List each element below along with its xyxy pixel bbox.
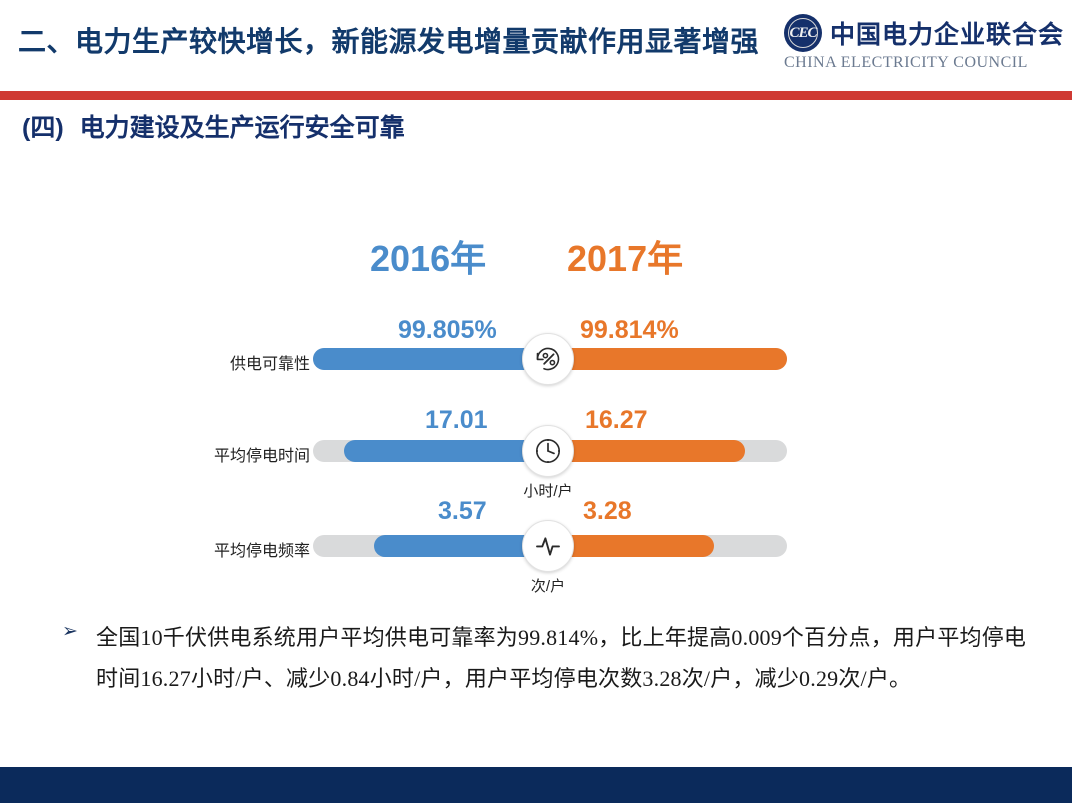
slide-header: 二、电力生产较快增长，新能源发电增量贡献作用显著增强 CEC 中国电力企业联合会… <box>0 0 1072 91</box>
row-value-2016-reliability: 99.805% <box>398 316 497 345</box>
row-fill-2017-outage-duration <box>550 440 745 462</box>
legend-2017: 2017年 <box>567 230 683 282</box>
logo-chinese-name: 中国电力企业联合会 <box>830 15 1064 51</box>
row-value-2016-outage-duration: 17.01 <box>425 406 488 435</box>
chart-row-reliability: 供电可靠性 99.805% 99.814% <box>0 318 1072 408</box>
bullet-arrow-icon: ➢ <box>62 618 96 641</box>
row-value-2016-outage-frequency: 3.57 <box>438 497 487 526</box>
section-heading-text: 电力建设及生产运行安全可靠 <box>80 114 405 142</box>
slide: 二、电力生产较快增长，新能源发电增量贡献作用显著增强 CEC 中国电力企业联合会… <box>0 0 1072 803</box>
section-heading: (四)电力建设及生产运行安全可靠 <box>22 108 405 144</box>
row-fill-2017-outage-frequency <box>550 535 714 557</box>
summary-bullet: ➢ 全国10千伏供电系统用户平均供电可靠率为99.814%，比上年提高0.009… <box>62 618 1042 700</box>
row-value-2017-outage-duration: 16.27 <box>585 406 648 435</box>
row-label-outage-frequency: 平均停电频率 <box>110 537 310 561</box>
cec-seal-icon: CEC <box>784 14 822 52</box>
logo-english-name: CHINA ELECTRICITY COUNCIL <box>784 54 1028 72</box>
row-fill-2017-reliability <box>550 348 787 370</box>
page-title: 二、电力生产较快增长，新能源发电增量贡献作用显著增强 <box>18 20 759 60</box>
row-unit-outage-duration: 小时/户 <box>500 480 596 501</box>
org-logo: CEC 中国电力企业联合会 CHINA ELECTRICITY COUNCIL <box>784 14 1064 72</box>
legend-2016-label: 2016年 <box>370 238 486 279</box>
footer-bar <box>0 767 1072 803</box>
chart-row-outage-duration: 平均停电时间 17.01 16.27 小时/户 <box>0 410 1072 500</box>
row-fill-2016-reliability <box>313 348 550 370</box>
section-number: (四) <box>22 114 64 142</box>
chart-row-outage-frequency: 平均停电频率 3.57 3.28 次/户 <box>0 505 1072 595</box>
pulse-icon <box>522 520 574 572</box>
header-divider <box>0 91 1072 100</box>
row-unit-outage-frequency: 次/户 <box>500 575 596 596</box>
summary-bullet-text: 全国10千伏供电系统用户平均供电可靠率为99.814%，比上年提高0.009个百… <box>96 618 1042 700</box>
clock-icon <box>522 425 574 477</box>
row-fill-2016-outage-duration <box>344 440 550 462</box>
logo-row: CEC 中国电力企业联合会 <box>784 14 1064 52</box>
row-value-2017-outage-frequency: 3.28 <box>583 497 632 526</box>
row-label-reliability: 供电可靠性 <box>110 350 310 374</box>
row-value-2017-reliability: 99.814% <box>580 316 679 345</box>
cec-seal-text: CEC <box>789 25 816 42</box>
legend-2016: 2016年 <box>370 230 486 282</box>
percent-refresh-icon <box>522 333 574 385</box>
row-label-outage-duration: 平均停电时间 <box>110 442 310 466</box>
reliability-chart: 2016年 2017年 供电可靠性 99.805% 99.814% <box>0 200 1072 600</box>
legend-2017-label: 2017年 <box>567 238 683 279</box>
